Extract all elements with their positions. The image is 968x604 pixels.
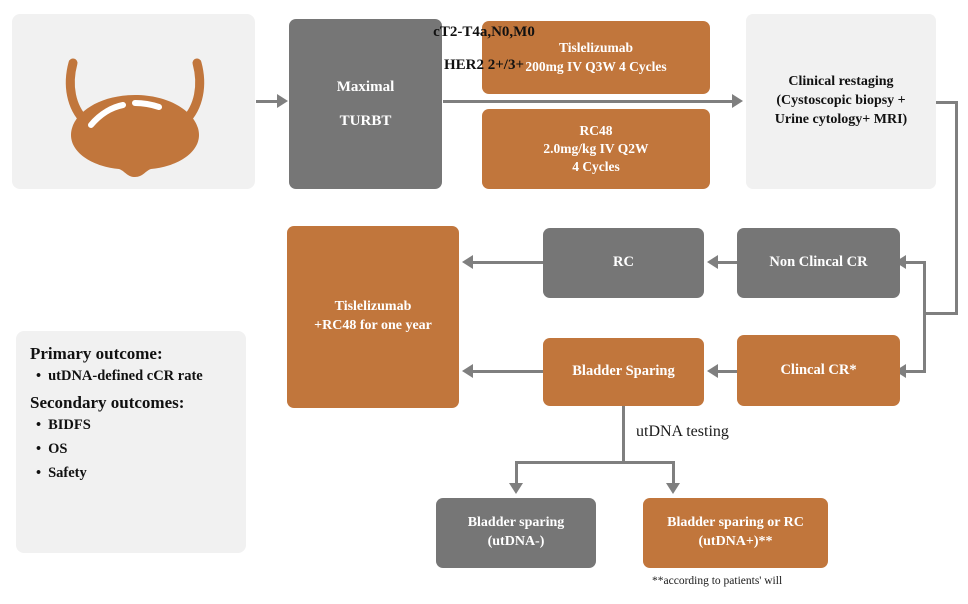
node-non-clinical-cr[interactable]: Non Clincal CR: [737, 228, 900, 298]
utdna-negative-line-2: (utDNA-): [442, 533, 590, 552]
clinical-cr-line-1: Clincal CR*: [743, 361, 894, 381]
connector-to-clinical-cr: [903, 370, 925, 373]
node-clinical-cr[interactable]: Clincal CR*: [737, 335, 900, 406]
connector-bladder-sparing-down: [622, 406, 625, 463]
bladder-icon: [55, 55, 215, 183]
connector-rc-to-maintenance: [471, 261, 543, 264]
eligibility-her2-label: HER2 2+/3+: [0, 57, 968, 74]
node-utdna-negative[interactable]: Bladder sparing (utDNA-): [436, 498, 596, 568]
secondary-outcomes-heading: Secondary outcomes:: [30, 393, 245, 413]
maintenance-line-2: +RC48 for one year: [293, 317, 453, 336]
rc48-line-1: RC48: [488, 122, 704, 140]
rc-line-1: RC: [549, 253, 698, 273]
restaging-line-2: (Cystoscopic biopsy +: [752, 92, 930, 111]
bladder-sparing-line-1: Bladder Sparing: [549, 362, 698, 382]
arrowhead-bladder-sparing-to-maintenance: [462, 364, 473, 378]
eligibility-stage-label: cT2-T4a,N0,M0: [0, 24, 968, 41]
utdna-negative-line-1: Bladder sparing: [442, 514, 590, 533]
primary-outcome-list: utDNA-defined cCR rate: [30, 368, 245, 385]
node-rc48-regimen[interactable]: RC48 2.0mg/kg IV Q2W 4 Cycles: [482, 109, 710, 189]
restaging-line-1: Clinical restaging: [752, 73, 930, 92]
connector-non-clinical-cr-to-rc: [715, 261, 737, 264]
restaging-line-3: Urine cytology+ MRI): [752, 111, 930, 130]
arrowhead-turbt-to-restaging: [732, 94, 743, 108]
trial-flow-diagram: cT2-T4a,N0,M0 HER2 2+/3+ Maximal TURBT T…: [0, 0, 968, 604]
primary-outcome-heading: Primary outcome:: [30, 344, 245, 364]
connector-utdna-split-bar: [515, 461, 675, 464]
arrowhead-to-utdna-positive: [666, 483, 680, 494]
arrowhead-non-clinical-cr-to-rc: [707, 255, 718, 269]
rc48-line-3: 4 Cycles: [488, 158, 704, 176]
rc48-line-2: 2.0mg/kg IV Q2W: [488, 140, 704, 158]
arrowhead-intake-to-turbt: [277, 94, 288, 108]
connector-restaging-trunk: [955, 101, 958, 315]
outcomes-content: Primary outcome: utDNA-defined cCR rate …: [30, 344, 245, 490]
connector-branch-riser: [923, 261, 926, 373]
arrowhead-clinical-cr-to-bladder-sparing: [707, 364, 718, 378]
list-item: utDNA-defined cCR rate: [36, 368, 245, 385]
tislelizumab-line-1: Tislelizumab: [488, 39, 704, 57]
non-clinical-cr-line-1: Non Clincal CR: [743, 253, 894, 273]
list-item: OS: [36, 441, 245, 458]
arrowhead-to-utdna-negative: [509, 483, 523, 494]
connector-clinical-cr-to-bladder-sparing: [715, 370, 737, 373]
node-maximal-turbt[interactable]: Maximal TURBT: [289, 19, 442, 189]
node-maintenance-therapy[interactable]: Tislelizumab +RC48 for one year: [287, 226, 459, 408]
node-radical-cystectomy[interactable]: RC: [543, 228, 704, 298]
node-bladder-sparing[interactable]: Bladder Sparing: [543, 338, 704, 406]
connector-utdna-right-drop: [672, 461, 675, 485]
turbt-line-2: TURBT: [295, 111, 436, 131]
list-item: BIDFS: [36, 417, 245, 434]
connector-intake-to-turbt: [256, 100, 278, 103]
secondary-outcome-list: BIDFS OS Safety: [30, 417, 245, 482]
connector-bladder-sparing-to-maintenance: [471, 370, 543, 373]
utdna-testing-label: utDNA testing: [636, 423, 729, 441]
turbt-line-1: Maximal: [295, 77, 436, 97]
utdna-positive-line-2: (utDNA+)**: [649, 533, 822, 552]
node-utdna-positive[interactable]: Bladder sparing or RC (utDNA+)**: [643, 498, 828, 568]
list-item: Safety: [36, 465, 245, 482]
connector-turbt-to-restaging: [443, 100, 733, 103]
connector-trunk-jog: [923, 312, 958, 315]
connector-utdna-left-drop: [515, 461, 518, 485]
arrowhead-rc-to-maintenance: [462, 255, 473, 269]
footnote-patients-will: **according to patients' will: [652, 575, 782, 587]
connector-to-non-clinical-cr: [903, 261, 925, 264]
utdna-positive-line-1: Bladder sparing or RC: [649, 514, 822, 533]
maintenance-line-1: Tislelizumab: [293, 298, 453, 317]
